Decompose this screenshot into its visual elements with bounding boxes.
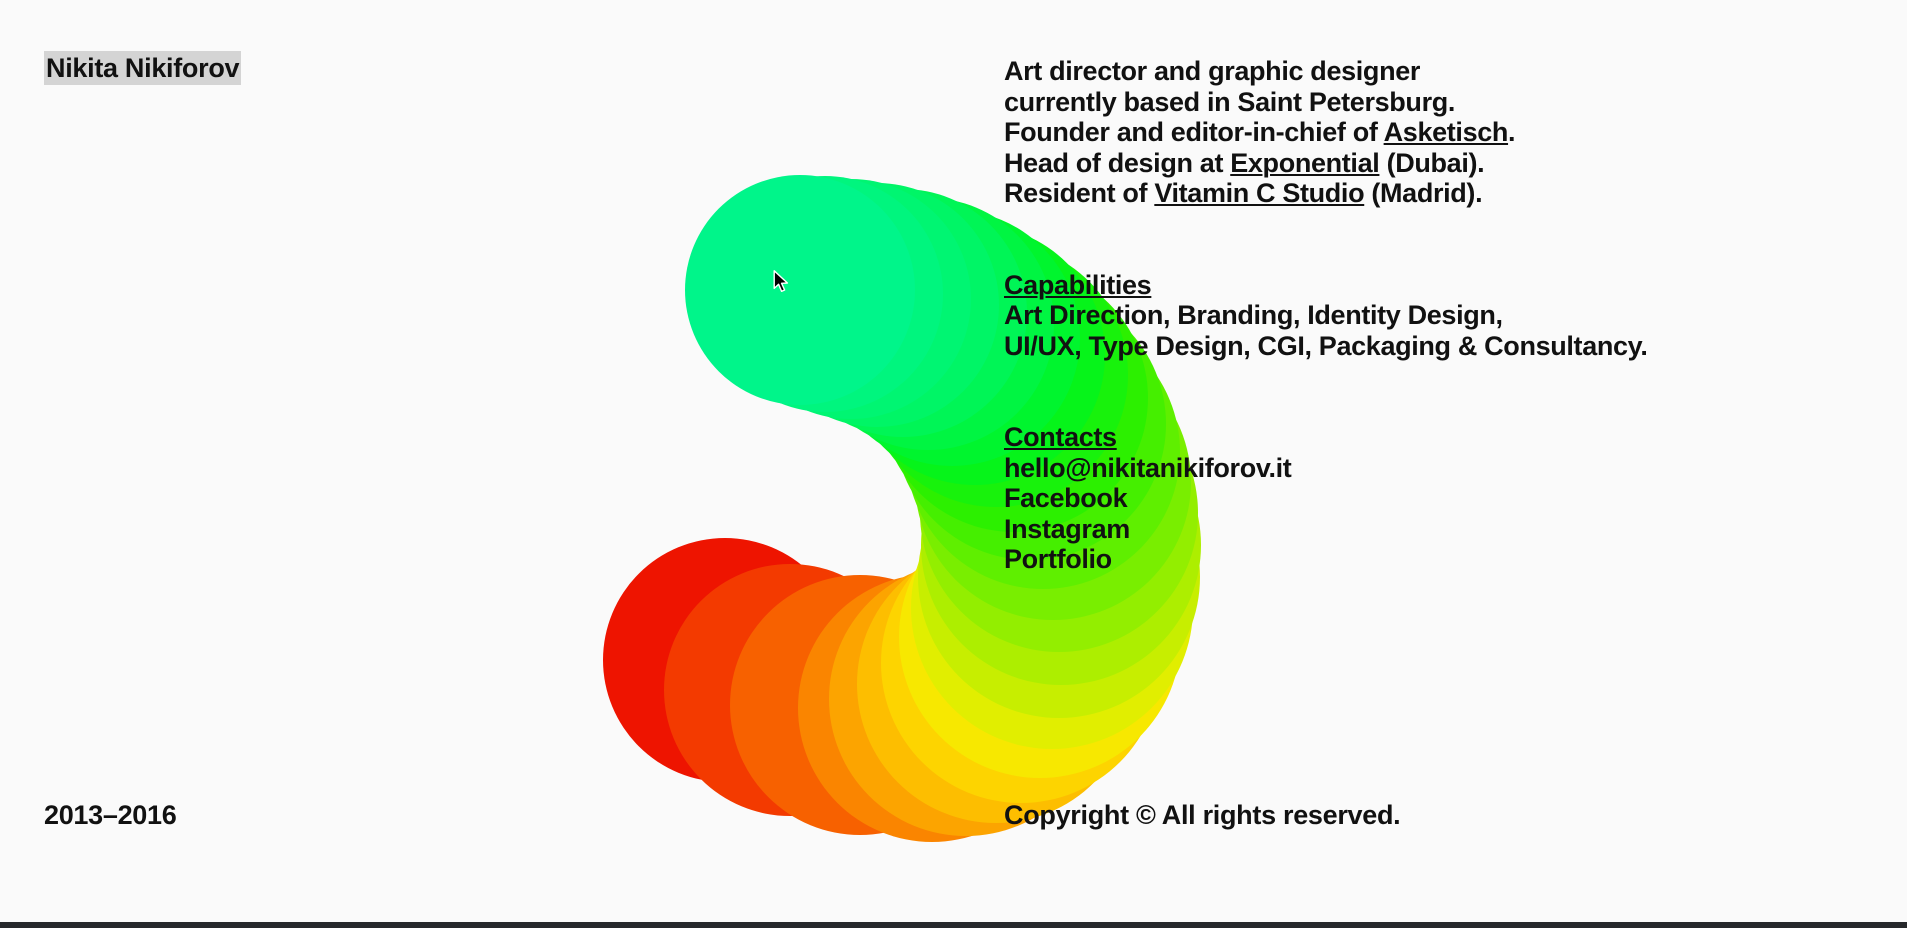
intro-line-5-prefix: Resident of [1004,178,1154,208]
contacts-item-line-0: hello@nikitanikiforov.it [1004,453,1647,484]
contacts-section: Contacts hello@nikitanikiforov.it Facebo… [1004,422,1647,575]
intro-line-2: currently based in Saint Petersburg. [1004,87,1647,118]
exponential-link[interactable]: Exponential [1230,148,1379,178]
contacts-heading-line: Contacts [1004,422,1647,453]
intro-line-5: Resident of Vitamin C Studio (Madrid). [1004,178,1647,209]
spacer-after-capabilities-2 [1004,392,1647,423]
vitamin-c-studio-link[interactable]: Vitamin C Studio [1154,178,1364,208]
capabilities-heading[interactable]: Capabilities [1004,270,1151,301]
right-column: Art director and graphic designer curren… [1004,56,1647,575]
page-title: Nikita Nikiforov [44,52,241,85]
contacts-heading[interactable]: Contacts [1004,422,1117,453]
intro-line-3-suffix: . [1508,117,1515,147]
intro-line-3: Founder and editor-in-chief of Asketisch… [1004,117,1647,148]
contacts-item-line-1: Facebook [1004,483,1647,514]
intro-line-4-suffix: (Dubai). [1379,148,1484,178]
contact-facebook-link[interactable]: Facebook [1004,483,1127,514]
page-title-text: Nikita Nikiforov [44,51,241,85]
intro-line-1: Art director and graphic designer [1004,56,1647,87]
contacts-item-line-3: Portfolio [1004,544,1647,575]
capabilities-section: Capabilities Art Direction, Branding, Id… [1004,270,1647,362]
asketisch-link[interactable]: Asketisch [1384,117,1508,147]
intro-line-3-prefix: Founder and editor-in-chief of [1004,117,1384,147]
page-canvas: Nikita Nikiforov Art director and graphi… [0,0,1907,922]
browser-window-bottom-edge [0,922,1907,928]
footer-copyright: Copyright © All rights reserved. [1004,800,1400,831]
intro-line-5-suffix: (Madrid). [1364,178,1482,208]
content-layer: Nikita Nikiforov Art director and graphi… [0,0,1907,922]
capabilities-line-2: UI/UX, Type Design, CGI, Packaging & Con… [1004,331,1647,362]
contact-instagram-link[interactable]: Instagram [1004,514,1130,545]
footer-years: 2013–2016 [44,800,176,831]
contact-email-link[interactable]: hello@nikitanikiforov.it [1004,453,1291,484]
intro-paragraph: Art director and graphic designer curren… [1004,56,1647,209]
intro-line-4-prefix: Head of design at [1004,148,1230,178]
spacer-after-capabilities [1004,361,1647,392]
contact-portfolio-link[interactable]: Portfolio [1004,544,1112,575]
capabilities-heading-line: Capabilities [1004,270,1647,301]
capabilities-line-1: Art Direction, Branding, Identity Design… [1004,300,1647,331]
contacts-item-line-2: Instagram [1004,514,1647,545]
intro-line-4: Head of design at Exponential (Dubai). [1004,148,1647,179]
spacer-after-intro-2 [1004,239,1647,270]
spacer-after-intro [1004,209,1647,240]
